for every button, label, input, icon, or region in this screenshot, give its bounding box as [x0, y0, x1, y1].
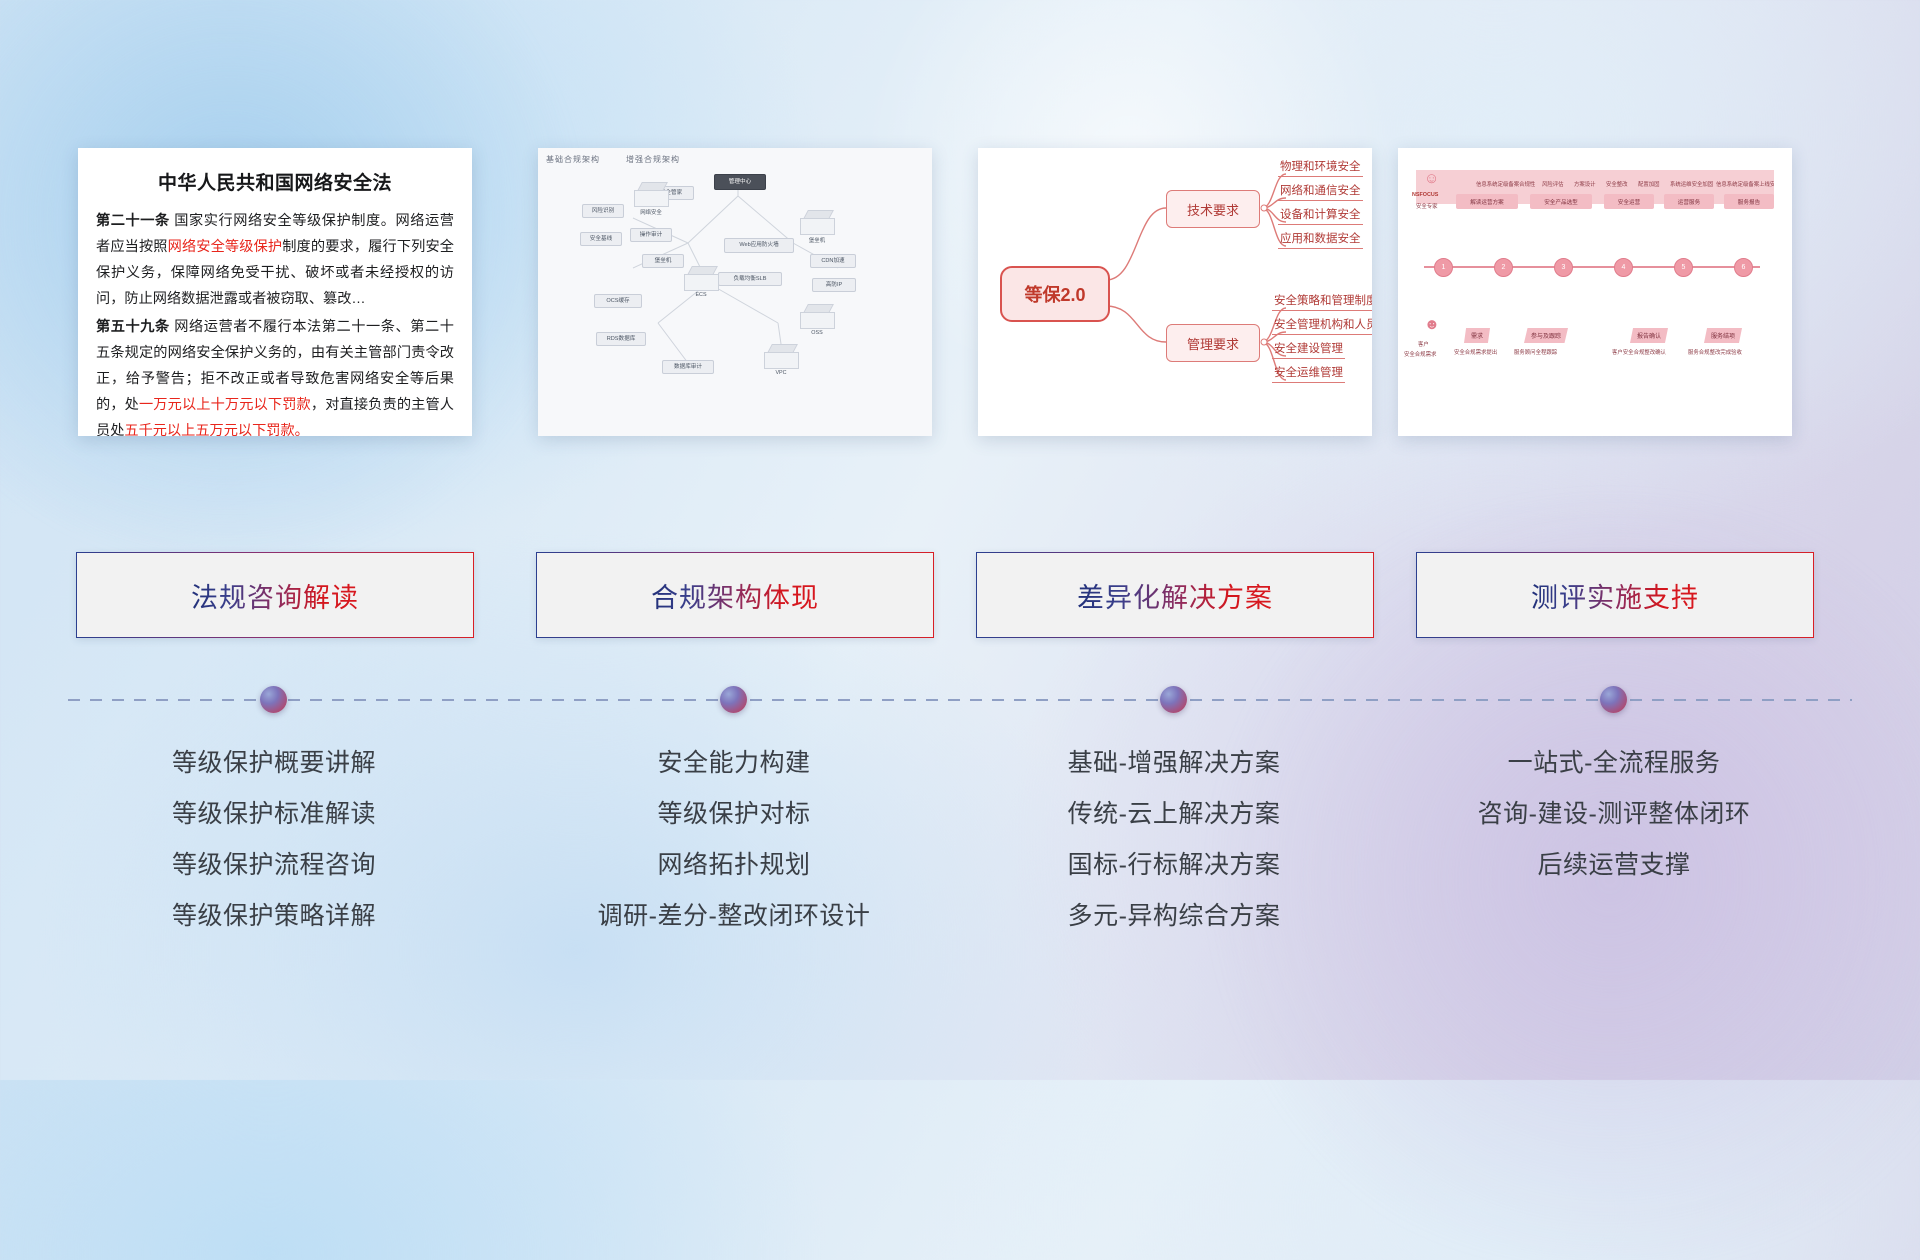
- arch-node-management-center: 管理中心: [714, 174, 766, 190]
- mindmap-leaf-mgmt-1: 安全策略和管理制度: [1272, 292, 1372, 311]
- banner-item-6: 系统运维安全加固: [1670, 180, 1713, 188]
- arch-cube-vpc: VPC: [764, 344, 798, 370]
- arch-node-anti-ddos: 高防IP: [812, 278, 856, 292]
- brand-label: NSFOCUS: [1412, 192, 1438, 198]
- arch-cube-label-oss: OSS: [800, 330, 834, 336]
- bottom-badge-sub-3: 客户安全合规整改确认: [1612, 348, 1666, 356]
- banner-item-1: 信息系统定级备案合规性: [1476, 180, 1535, 188]
- timeline-step-2: 2: [1494, 258, 1513, 277]
- mindmap: 等保2.0 技术要求 管理要求 物理和环境安全 网络和通信安全 设备和计算安全 …: [978, 148, 1372, 436]
- stage-pill-1: 解读运营方案: [1456, 194, 1518, 209]
- timeline-marker-4[interactable]: [1600, 686, 1627, 713]
- law-run-1-1: 网络安全等级保护: [168, 239, 283, 255]
- timeline-axis: [1424, 266, 1760, 268]
- arch-cube-body: [800, 218, 835, 235]
- category-label-1: 法规咨询解读: [191, 576, 359, 615]
- brand-sub-label: 安全专家: [1416, 202, 1438, 210]
- detail-item-4-2: 咨询-建设-测评整体闭环: [1416, 796, 1812, 832]
- arch-cube-body: [764, 352, 799, 369]
- law-paragraph-2: 第五十九条 网络运营者不履行本法第二十一条、第二十五条规定的网络安全保护义务的，…: [96, 314, 454, 436]
- bottom-badge-sub-4: 服务合规整改完成验收: [1688, 348, 1742, 356]
- law-paragraph-1: 第二十一条 国家实行网络安全等级保护制度。网络运营者应当按照网络安全等级保护制度…: [96, 208, 454, 312]
- mindmap-branch-management: 管理要求: [1166, 324, 1260, 362]
- bottom-badge-sub-1: 安全合规需求提出: [1454, 348, 1497, 356]
- architecture-header-labels: 基础合规架构增强合规架构: [546, 154, 706, 165]
- timeline-step-4: 4: [1614, 258, 1633, 277]
- architecture-diagram: 基础合规架构增强合规架构 管理中心 安全管家 风险识别 安全基线 操作审计 堡垒…: [538, 148, 932, 436]
- category-box-assessment-support[interactable]: 测评实施支持: [1416, 552, 1814, 638]
- bottom-badge-sub-2: 服务顾问全程跟踪: [1514, 348, 1557, 356]
- detail-item-4-1: 一站式-全流程服务: [1416, 745, 1812, 781]
- card-compliance-architecture[interactable]: 基础合规架构增强合规架构 管理中心 安全管家 风险识别 安全基线 操作审计 堡垒…: [538, 148, 932, 436]
- arch-node-risk-identification: 风险识别: [582, 204, 624, 218]
- category-label-2: 合规架构体现: [651, 576, 819, 615]
- timeline-marker-1[interactable]: [260, 686, 287, 713]
- detail-columns: 等级保护概要讲解 等级保护标准解读 等级保护流程咨询 等级保护策略详解 安全能力…: [0, 745, 1920, 975]
- detail-item-3-4: 多元-异构综合方案: [976, 898, 1372, 934]
- stage-pill-3: 安全运营: [1604, 194, 1654, 209]
- arch-node-cdn: CDN加速: [810, 254, 856, 268]
- mindmap-root-node: 等保2.0: [1000, 266, 1110, 322]
- category-box-differentiated-solution[interactable]: 差异化解决方案: [976, 552, 1374, 638]
- bottom-badge-3: 报告确认: [1630, 328, 1668, 343]
- main-timeline-axis: [68, 699, 1852, 701]
- stage-pill-5: 服务报告: [1724, 194, 1774, 209]
- reference-cards-row: 中华人民共和国网络安全法 第二十一条 国家实行网络安全等级保护制度。网络运营者应…: [0, 148, 1920, 443]
- timeline-marker-2[interactable]: [720, 686, 747, 713]
- law-title: 中华人民共和国网络安全法: [96, 168, 454, 195]
- stage-pill-2: 安全产品选型: [1530, 194, 1592, 209]
- arch-node-operation-audit: 操作审计: [630, 228, 672, 242]
- arch-cube-ecs: ECS: [684, 266, 718, 292]
- detail-column-4: 一站式-全流程服务 咨询-建设-测评整体闭环 后续运营支撑: [1416, 745, 1812, 898]
- arch-cube-label-ecs: ECS: [684, 292, 718, 298]
- mindmap-leaf-mgmt-2: 安全管理机构和人员: [1272, 316, 1372, 335]
- banner-item-2: 风险评估: [1542, 180, 1564, 188]
- timeline-step-6: 6: [1734, 258, 1753, 277]
- bottom-badge-1: 需求: [1464, 328, 1490, 343]
- category-label-3: 差异化解决方案: [1077, 576, 1273, 615]
- bottom-badge-4: 服务结项: [1704, 328, 1742, 343]
- arch-node-bastion-host: 堡垒机: [642, 254, 684, 268]
- arch-node-rds: RDS数据库: [596, 332, 646, 346]
- arch-cube-bastion: 堡垒机: [800, 210, 834, 236]
- mindmap-leaf-mgmt-3: 安全建设管理: [1272, 340, 1345, 359]
- arch-node-waf: Web应用防火墙: [724, 238, 794, 253]
- mindmap-leaf-mgmt-4: 安全运维管理: [1272, 364, 1345, 383]
- banner-item-5: 配置加固: [1638, 180, 1660, 188]
- category-label-4: 测评实施支持: [1531, 576, 1699, 615]
- timeline-step-5: 5: [1674, 258, 1693, 277]
- detail-item-3-3: 国标-行标解决方案: [976, 847, 1372, 883]
- mindmap-leaf-tech-2: 网络和通信安全: [1278, 182, 1363, 201]
- detail-column-2: 安全能力构建 等级保护对标 网络拓扑规划 调研-差分-整改闭环设计: [536, 745, 932, 949]
- arch-cube-body: [634, 190, 669, 207]
- detail-item-2-3: 网络拓扑规划: [536, 847, 932, 883]
- mindmap-branch-technical: 技术要求: [1166, 190, 1260, 228]
- arch-node-slb: 负载均衡SLB: [718, 272, 782, 286]
- arch-node-security-baseline: 安全基线: [580, 232, 622, 246]
- detail-item-4-3: 后续运营支撑: [1416, 847, 1812, 883]
- stage-pill-4: 运营服务: [1664, 194, 1714, 209]
- arch-node-ocs-cache: OCS缓存: [594, 294, 642, 308]
- law-run-2-1: 一万元以上十万元以下罚款: [139, 397, 311, 413]
- detail-item-1-2: 等级保护标准解读: [76, 796, 472, 832]
- banner-item-3: 方案设计: [1574, 180, 1596, 188]
- mindmap-leaf-tech-3: 设备和计算安全: [1278, 206, 1363, 225]
- timeline-step-3: 3: [1554, 258, 1573, 277]
- law-body: 中华人民共和国网络安全法 第二十一条 国家实行网络安全等级保护制度。网络运营者应…: [78, 148, 472, 436]
- card-cybersecurity-law[interactable]: 中华人民共和国网络安全法 第二十一条 国家实行网络安全等级保护制度。网络运营者应…: [78, 148, 472, 436]
- bottom-badge-2: 参与及跟踪: [1524, 328, 1568, 343]
- arch-node-db-audit: 数据库审计: [662, 360, 714, 374]
- card-service-timeline[interactable]: 信息系统定级备案合规性 风险评估 方案设计 安全整改 配置加固 系统运维安全加固…: [1398, 148, 1792, 436]
- mindmap-leaf-tech-4: 应用和数据安全: [1278, 230, 1363, 249]
- detail-column-1: 等级保护概要讲解 等级保护标准解读 等级保护流程咨询 等级保护策略详解: [76, 745, 472, 949]
- detail-item-1-3: 等级保护流程咨询: [76, 847, 472, 883]
- arch-cube-oss: OSS: [800, 304, 834, 330]
- detail-item-2-4: 调研-差分-整改闭环设计: [536, 898, 932, 934]
- detail-item-1-1: 等级保护概要讲解: [76, 745, 472, 781]
- category-boxes-row: 法规咨询解读 合规架构体现 差异化解决方案 测评实施支持: [0, 552, 1920, 636]
- law-article-label-1: 第二十一条: [96, 213, 170, 229]
- arch-header-basic: 基础合规架构: [546, 155, 600, 164]
- customer-note-label: 安全合规需求: [1404, 350, 1436, 358]
- detail-item-2-1: 安全能力构建: [536, 745, 932, 781]
- category-box-compliance-architecture[interactable]: 合规架构体现: [536, 552, 934, 638]
- category-box-regulation-consulting[interactable]: 法规咨询解读: [76, 552, 474, 638]
- arch-cube-body: [800, 312, 835, 329]
- arch-cube-network-security: 网络安全: [634, 182, 668, 208]
- timeline-step-1: 1: [1434, 258, 1453, 277]
- detail-item-3-1: 基础-增强解决方案: [976, 745, 1372, 781]
- expert-avatar-icon: ☺: [1424, 170, 1439, 187]
- timeline-marker-3[interactable]: [1160, 686, 1187, 713]
- arch-cube-label-bastion: 堡垒机: [800, 236, 834, 244]
- banner-item-7: 信息系统定级备案上线安全运营合规: [1716, 180, 1792, 188]
- banner-item-4: 安全整改: [1606, 180, 1628, 188]
- arch-header-enhanced: 增强合规架构: [626, 155, 680, 164]
- arch-cube-label-netsec: 网络安全: [634, 208, 668, 216]
- detail-column-3: 基础-增强解决方案 传统-云上解决方案 国标-行标解决方案 多元-异构综合方案: [976, 745, 1372, 949]
- customer-role-label: 客户: [1418, 340, 1429, 348]
- arch-cube-body: [684, 274, 719, 291]
- detail-item-1-4: 等级保护策略详解: [76, 898, 472, 934]
- architecture-connector-lines: [538, 148, 932, 436]
- law-run-2-3: 五千元以上五万元以下罚款。: [124, 423, 308, 436]
- detail-item-3-2: 传统-云上解决方案: [976, 796, 1372, 832]
- detail-item-2-2: 等级保护对标: [536, 796, 932, 832]
- arch-cube-label-vpc: VPC: [764, 370, 798, 376]
- card-dengbao-mindmap[interactable]: 等保2.0 技术要求 管理要求 物理和环境安全 网络和通信安全 设备和计算安全 …: [978, 148, 1372, 436]
- mindmap-leaf-tech-1: 物理和环境安全: [1278, 158, 1363, 177]
- service-infographic: 信息系统定级备案合规性 风险评估 方案设计 安全整改 配置加固 系统运维安全加固…: [1398, 148, 1792, 436]
- law-article-label-2: 第五十九条: [96, 319, 170, 335]
- customer-avatar-icon: ☻: [1424, 316, 1440, 333]
